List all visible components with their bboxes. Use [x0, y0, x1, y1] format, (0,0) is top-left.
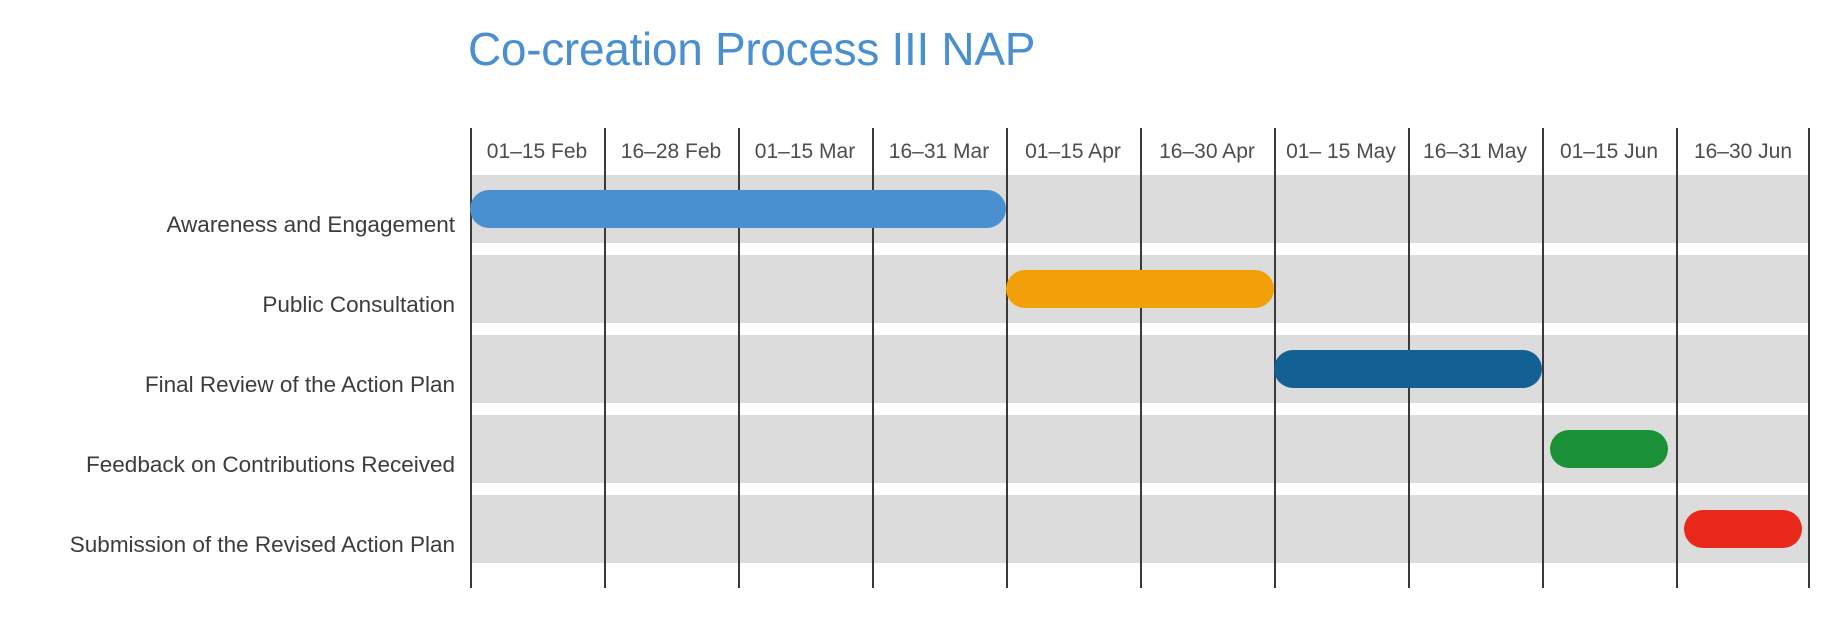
task-bar[interactable]: [470, 190, 1006, 228]
timeline-header-cell: 16–30 Jun: [1676, 128, 1810, 175]
page-title: Co-creation Process III NAP: [468, 22, 1035, 76]
timeline-header-cell: 16–30 Apr: [1140, 128, 1274, 175]
timeline-header-row: 01–15 Feb16–28 Feb01–15 Mar16–31 Mar01–1…: [470, 128, 1810, 175]
timeline-header-cell: 01–15 Mar: [738, 128, 872, 175]
timeline-header-cell: 01–15 Feb: [470, 128, 604, 175]
task-row-label: Feedback on Contributions Received: [86, 425, 455, 505]
task-bar-layer: [470, 175, 1810, 575]
task-bar[interactable]: [1550, 430, 1668, 468]
timeline-header-cell: 16–31 May: [1408, 128, 1542, 175]
task-label-column: Awareness and EngagementPublic Consultat…: [0, 185, 455, 585]
timeline-header-cell: 01–15 Apr: [1006, 128, 1140, 175]
task-bar[interactable]: [1274, 350, 1542, 388]
timeline-header-cell: 01– 15 May: [1274, 128, 1408, 175]
gantt-plot-area: 01–15 Feb16–28 Feb01–15 Mar16–31 Mar01–1…: [470, 128, 1810, 588]
task-row-label: Final Review of the Action Plan: [145, 345, 455, 425]
task-bar[interactable]: [1006, 270, 1274, 308]
timeline-header-cell: 16–31 Mar: [872, 128, 1006, 175]
task-row-label: Public Consultation: [262, 265, 455, 345]
gantt-chart: Co-creation Process III NAP Awareness an…: [0, 0, 1840, 632]
task-bar[interactable]: [1684, 510, 1802, 548]
timeline-header-cell: 01–15 Jun: [1542, 128, 1676, 175]
task-row-label: Submission of the Revised Action Plan: [70, 505, 455, 585]
task-row-label: Awareness and Engagement: [166, 185, 455, 265]
timeline-header-cell: 16–28 Feb: [604, 128, 738, 175]
